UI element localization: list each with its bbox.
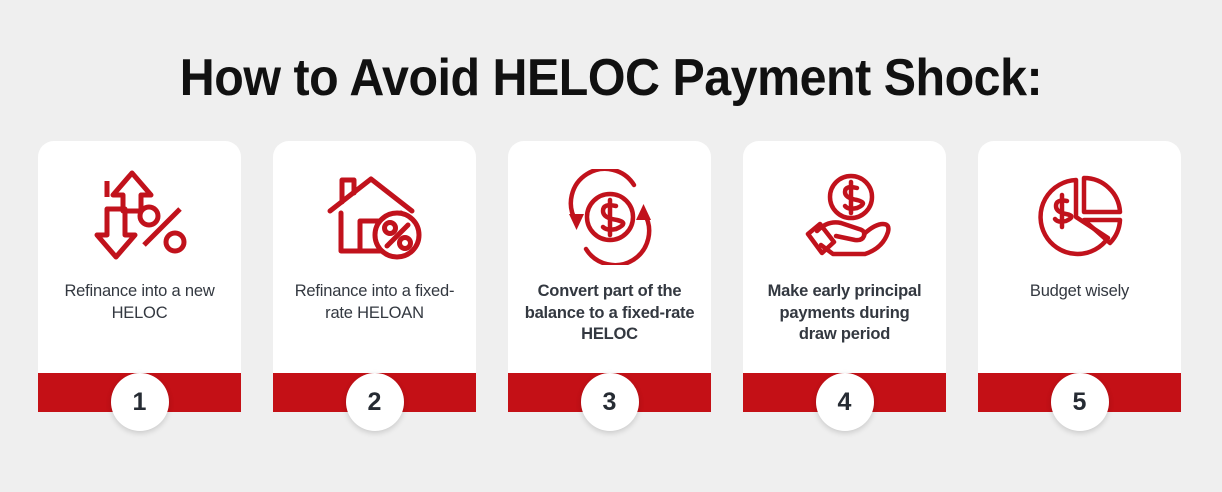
card-row: Refinance into a new HELOC 1 [38, 141, 1184, 451]
card-4-number-badge: 4 [816, 373, 874, 431]
house-percent-icon [320, 167, 430, 267]
card-4-body: Make early principal payments during dra… [743, 141, 946, 412]
card-1-body: Refinance into a new HELOC [38, 141, 241, 412]
card-5-number-badge: 5 [1051, 373, 1109, 431]
card-2-number-badge: 2 [346, 373, 404, 431]
card-3-number-badge: 3 [581, 373, 639, 431]
card-2[interactable]: Refinance into a fixed-rate HELOAN 2 [273, 141, 476, 412]
card-5-label: Budget wisely [994, 281, 1166, 303]
card-3[interactable]: Convert part of the balance to a fixed-r… [508, 141, 711, 412]
hand-holding-dollar-icon [790, 167, 900, 267]
card-3-body: Convert part of the balance to a fixed-r… [508, 141, 711, 412]
card-1-number-badge: 1 [111, 373, 169, 431]
card-3-label: Convert part of the balance to a fixed-r… [524, 281, 696, 346]
pie-chart-dollar-icon [1025, 167, 1135, 267]
circular-arrows-dollar-icon [555, 167, 665, 267]
card-5[interactable]: Budget wisely 5 [978, 141, 1181, 412]
card-2-label: Refinance into a fixed-rate HELOAN [289, 281, 461, 324]
card-4[interactable]: Make early principal payments during dra… [743, 141, 946, 412]
card-1-label: Refinance into a new HELOC [54, 281, 226, 324]
card-1[interactable]: Refinance into a new HELOC 1 [38, 141, 241, 412]
arrows-up-down-percent-icon [85, 167, 195, 267]
card-4-label: Make early principal payments during dra… [759, 281, 931, 346]
page-title: How to Avoid HELOC Payment Shock: [43, 47, 1179, 109]
card-2-body: Refinance into a fixed-rate HELOAN [273, 141, 476, 412]
card-5-body: Budget wisely [978, 141, 1181, 412]
heloc-payment-shock-infographic: How to Avoid HELOC Payment Shock: Refina… [0, 0, 1222, 492]
